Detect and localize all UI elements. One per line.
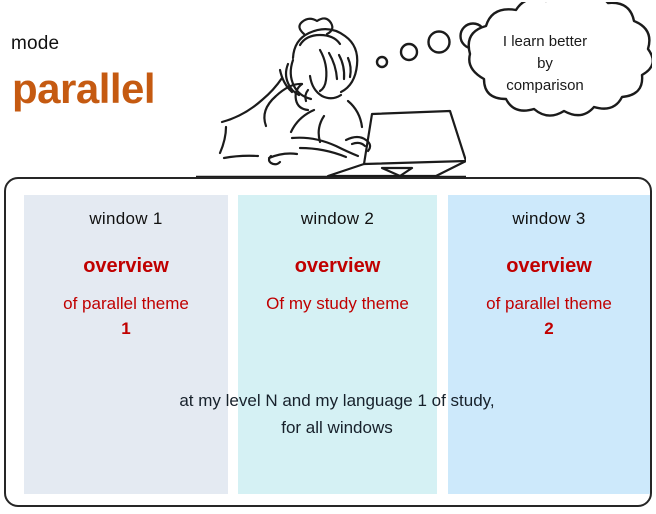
- window-3-theme-number: 2: [452, 316, 646, 341]
- window-3-overview-label: overview: [448, 255, 650, 278]
- window-1-title: window 1: [24, 209, 228, 229]
- window-column-1[interactable]: window 1 overview of parallel theme 1: [24, 195, 228, 494]
- window-3-description: of parallel theme 2: [448, 291, 650, 341]
- window-1-overview-label: overview: [24, 255, 228, 278]
- window-1-description-text: of parallel theme: [63, 294, 189, 313]
- mode-value: parallel: [12, 68, 155, 110]
- windows-panel: window 1 overview of parallel theme 1 wi…: [4, 177, 652, 507]
- window-2-description: Of my study theme: [238, 291, 437, 316]
- window-1-description: of parallel theme 1: [24, 291, 228, 341]
- window-2-title: window 2: [238, 209, 437, 229]
- window-column-3[interactable]: window 3 overview of parallel theme 2: [448, 195, 650, 494]
- window-column-2[interactable]: window 2 overview Of my study theme: [238, 195, 437, 494]
- window-3-title: window 3: [448, 209, 650, 229]
- thought-bubble-line-2: by: [466, 53, 624, 75]
- window-2-description-text: Of my study theme: [266, 294, 409, 313]
- mode-label: mode: [11, 33, 59, 55]
- header-area: mode parallel: [0, 0, 656, 178]
- thought-bubble-text: I learn better by comparison: [466, 31, 624, 97]
- thought-bubble-line-3: comparison: [466, 75, 624, 97]
- window-1-theme-number: 1: [28, 316, 224, 341]
- thought-bubble-line-1: I learn better: [466, 31, 624, 53]
- window-3-description-text: of parallel theme: [486, 294, 612, 313]
- window-2-overview-label: overview: [238, 255, 437, 278]
